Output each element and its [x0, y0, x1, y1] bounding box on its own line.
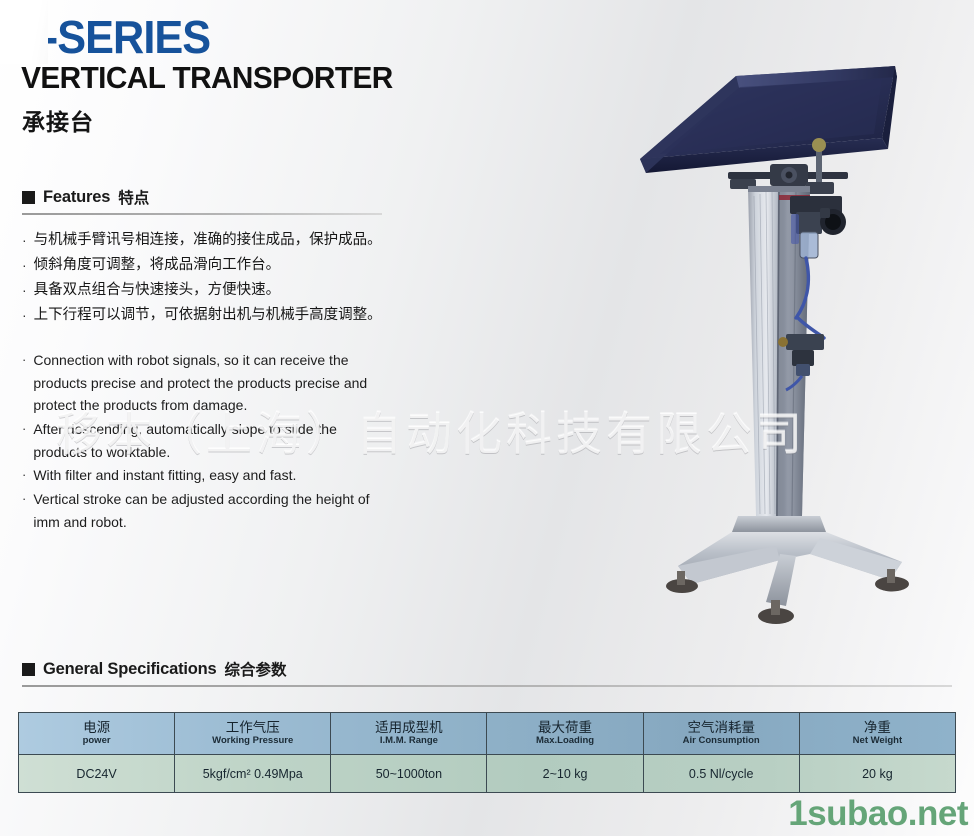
- bullet-marker: ·: [22, 488, 26, 533]
- list-item: · With filter and instant fitting, easy …: [22, 464, 402, 487]
- features-divider: [22, 213, 382, 215]
- features-label-cn: 特点: [118, 186, 149, 208]
- series-title-overlay-block: [0, 0, 48, 64]
- list-item: · Connection with robot signals, so it c…: [22, 349, 402, 417]
- list-item: · 具备双点组合与快速接头，方便快速。: [22, 278, 382, 303]
- features-list-en: · Connection with robot signals, so it c…: [22, 349, 402, 533]
- specifications-table: 电源 power 工作气压 Working Pressure 适用成型机 I.M…: [18, 712, 956, 793]
- page-title: VERTICAL TRANSPORTER: [0, 62, 595, 95]
- features-label-en: Features: [43, 188, 110, 207]
- bullet-marker: ·: [22, 303, 27, 328]
- bullet-marker: ·: [22, 418, 26, 463]
- specs-label-cn: 综合参数: [225, 658, 287, 680]
- features-section: Features 特点 · 与机械手臂讯号相连接，准确的接住成品，保护成品。 ·…: [22, 186, 382, 328]
- bullet-marker: ·: [22, 349, 26, 417]
- column-header-net-weight: 净重 Net Weight: [799, 713, 955, 755]
- specifications-heading: General Specifications 综合参数: [22, 658, 952, 680]
- base-assembly: [666, 516, 909, 624]
- tray-assembly: [640, 66, 897, 173]
- page-title-cn: 承接台: [0, 103, 620, 137]
- cell-working-pressure: 5kgf/cm² 0.49Mpa: [175, 755, 331, 793]
- page-header: T-SERIES VERTICAL TRANSPORTER 承接台: [0, 14, 620, 137]
- list-item: · Vertical stroke can be adjusted accord…: [22, 488, 402, 533]
- specifications-divider: [22, 685, 952, 687]
- features-heading: Features 特点: [22, 186, 382, 208]
- list-item: · 倾斜角度可调整，将成品滑向工作台。: [22, 253, 382, 278]
- specifications-section: General Specifications 综合参数: [22, 658, 952, 687]
- cell-max-loading: 2~10 kg: [487, 755, 643, 793]
- features-list-cn: · 与机械手臂讯号相连接，准确的接住成品，保护成品。 · 倾斜角度可调整，将成品…: [22, 228, 382, 328]
- column-header-working-pressure: 工作气压 Working Pressure: [175, 713, 331, 755]
- cell-net-weight: 20 kg: [799, 755, 955, 793]
- table-header-row: 电源 power 工作气压 Working Pressure 适用成型机 I.M…: [19, 713, 956, 755]
- list-item: · 上下行程可以调节，可依据射出机与机械手高度调整。: [22, 303, 382, 328]
- features-section-en: · Connection with robot signals, so it c…: [22, 349, 402, 534]
- product-datasheet-page: T-SERIES VERTICAL TRANSPORTER 承接台 Featur…: [0, 0, 974, 836]
- table-header: 电源 power 工作气压 Working Pressure 适用成型机 I.M…: [19, 713, 956, 755]
- specifications-table-wrapper: 电源 power 工作气压 Working Pressure 适用成型机 I.M…: [18, 712, 956, 793]
- specs-label-en: General Specifications: [43, 660, 217, 679]
- site-watermark: 1subao.net: [788, 794, 968, 834]
- cell-imm-range: 50~1000ton: [331, 755, 487, 793]
- bullet-marker: ·: [22, 253, 27, 278]
- table-row: DC24V 5kgf/cm² 0.49Mpa 50~1000ton 2~10 k…: [19, 755, 956, 793]
- column-header-imm-range: 适用成型机 I.M.M. Range: [331, 713, 487, 755]
- list-item: · 与机械手臂讯号相连接，准确的接住成品，保护成品。: [22, 228, 382, 253]
- column-header-max-loading: 最大荷重 Max.Loading: [487, 713, 643, 755]
- column-header-power: 电源 power: [19, 713, 175, 755]
- cell-air-consumption: 0.5 Nl/cycle: [643, 755, 799, 793]
- bullet-marker: ·: [22, 228, 27, 253]
- bullet-marker: ·: [22, 464, 26, 487]
- list-item: · After descending, automatically slope …: [22, 418, 402, 463]
- cell-power: DC24V: [19, 755, 175, 793]
- table-body: DC24V 5kgf/cm² 0.49Mpa 50~1000ton 2~10 k…: [19, 755, 956, 793]
- square-bullet-icon: [22, 663, 35, 676]
- series-title: T-SERIES: [0, 14, 583, 60]
- square-bullet-icon: [22, 191, 35, 204]
- product-photo: [620, 46, 970, 646]
- column-header-air-consumption: 空气消耗量 Air Consumption: [643, 713, 799, 755]
- bullet-marker: ·: [22, 278, 27, 303]
